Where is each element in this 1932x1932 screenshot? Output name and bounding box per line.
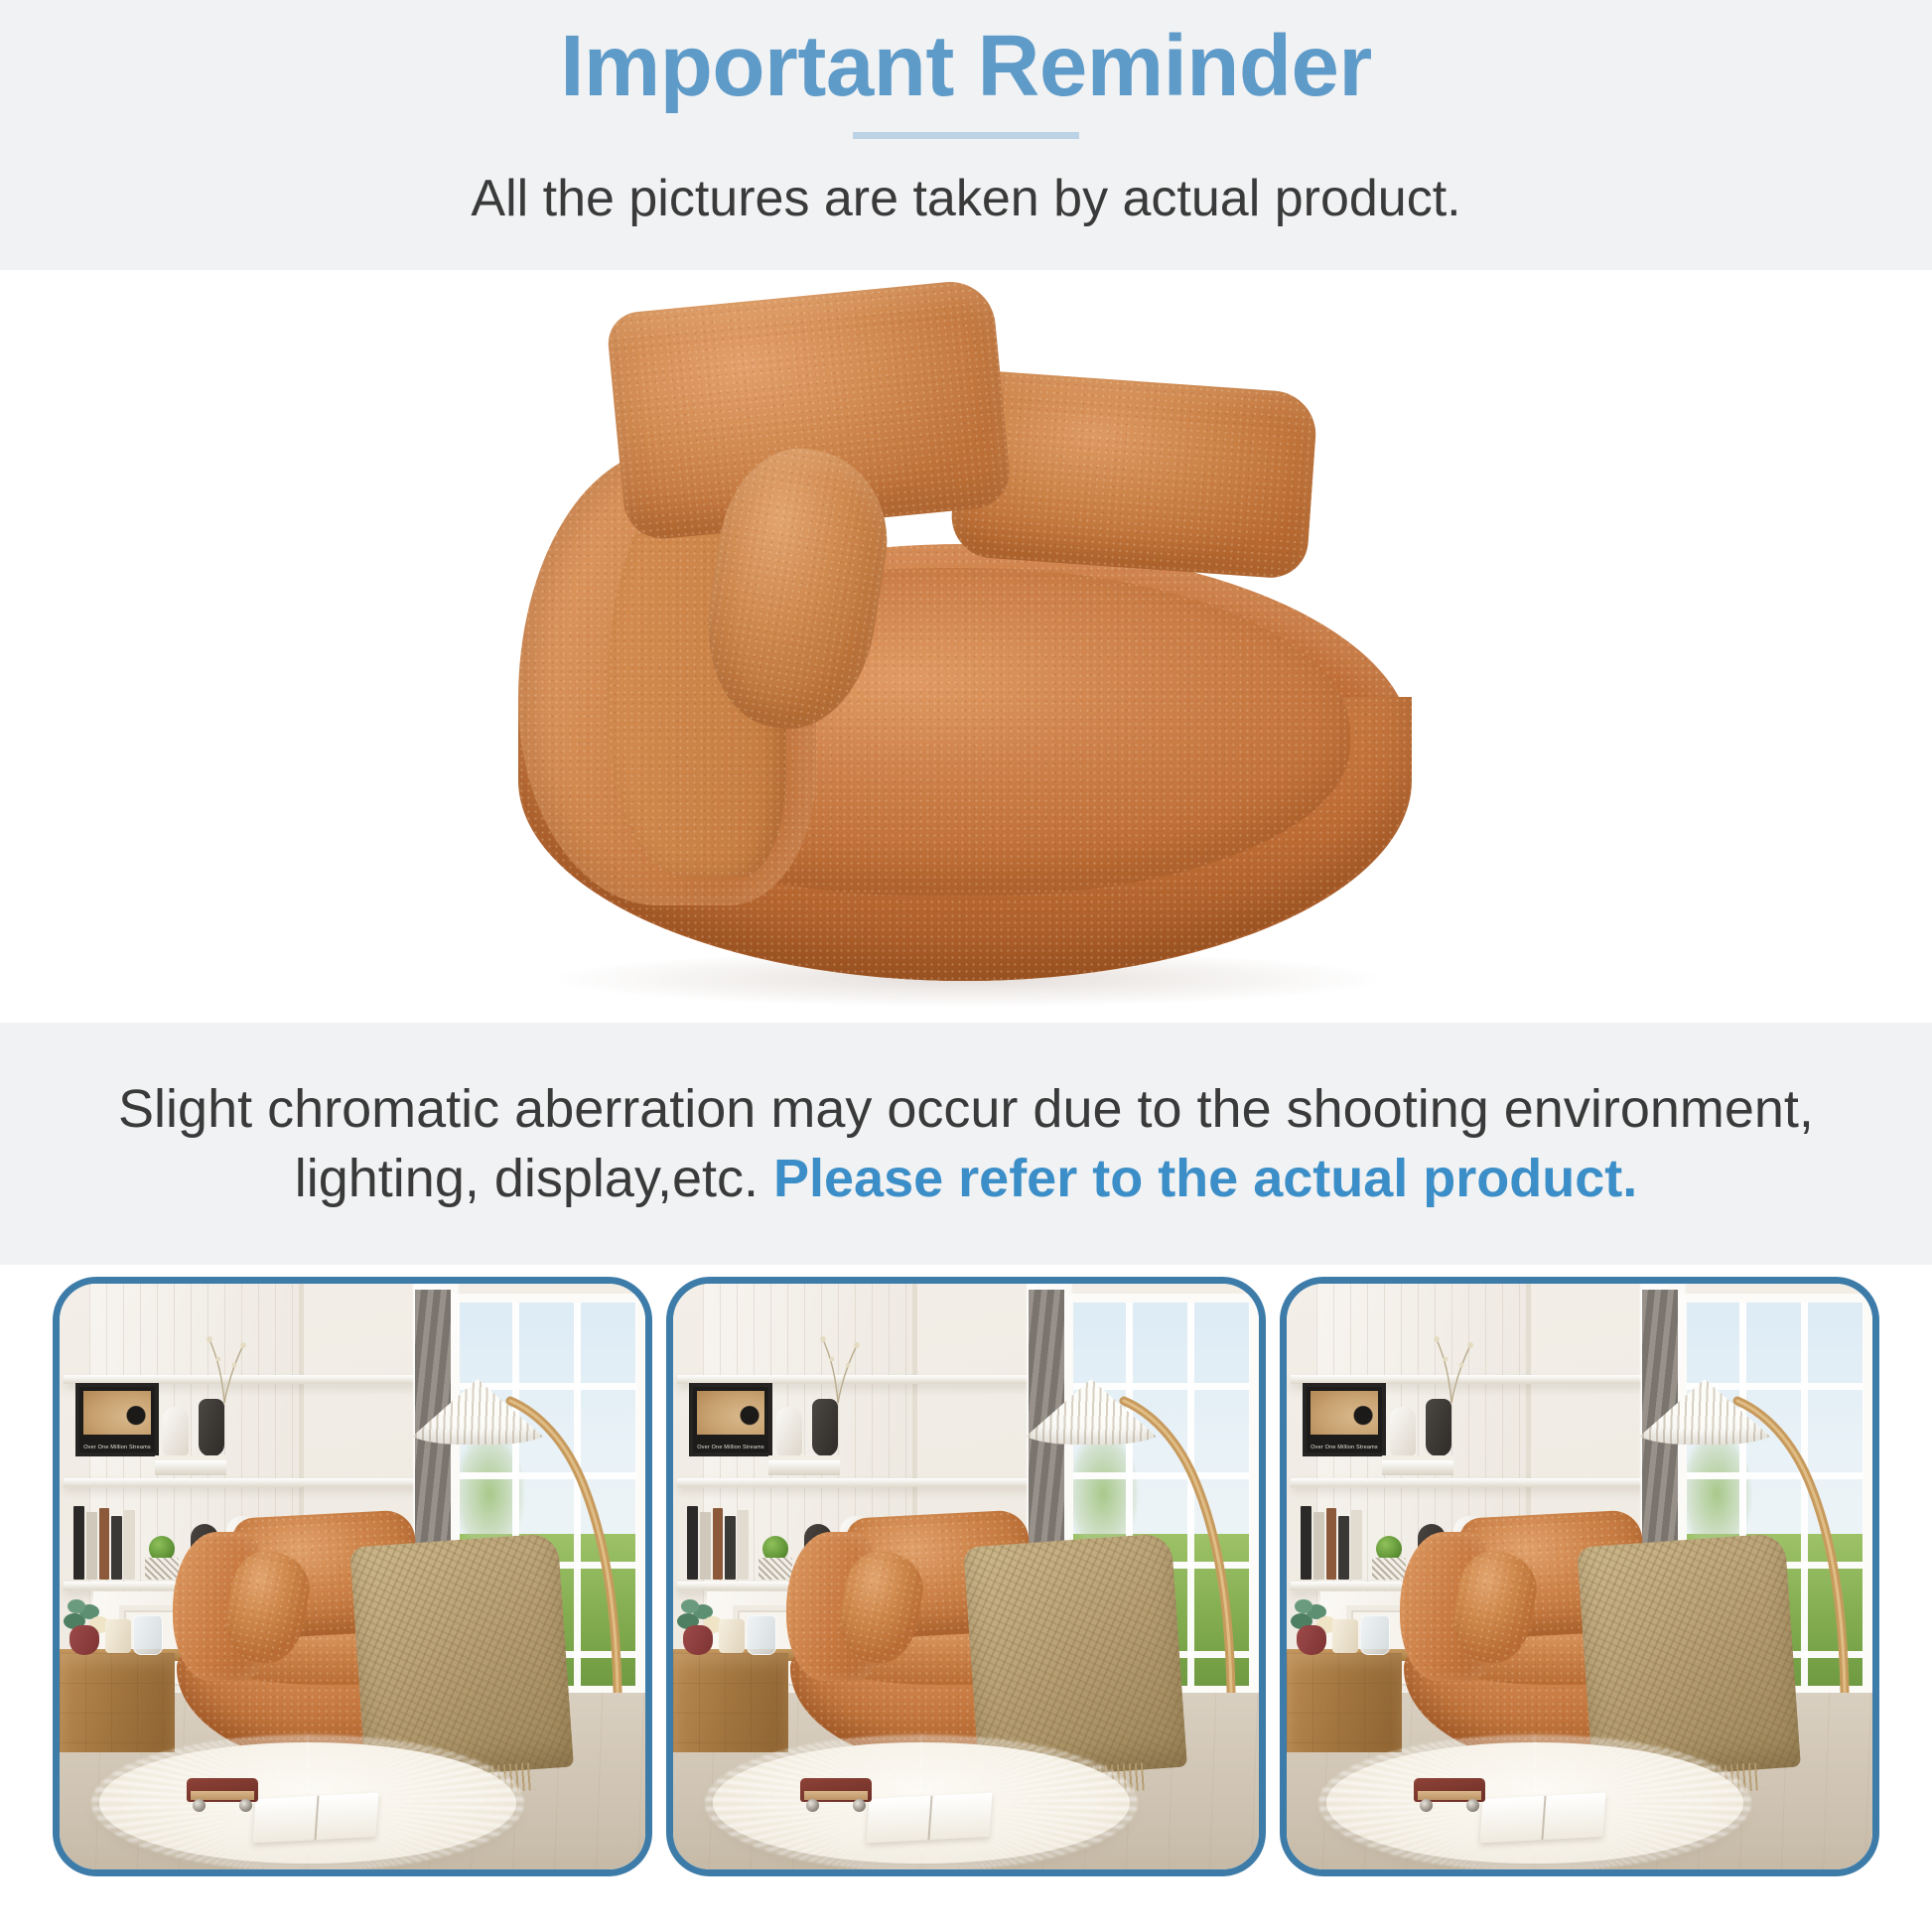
wood-nightstand [673, 1653, 788, 1752]
book-spine [1313, 1512, 1324, 1580]
white-sculpture-bust [163, 1407, 189, 1456]
book-spine [738, 1510, 749, 1580]
toy-car-wheel [806, 1799, 819, 1812]
lifestyle-thumbnail-row: Over One Million Streams [0, 1277, 1932, 1932]
eucalyptus-leaf [68, 1599, 85, 1613]
white-sculpture-bust [1390, 1407, 1416, 1456]
toy-car-decor [1414, 1778, 1485, 1812]
book-spine [1351, 1510, 1362, 1580]
white-sculpture-bust [776, 1407, 802, 1456]
dried-branch-decor [1426, 1329, 1477, 1403]
toy-car-wheel [239, 1799, 252, 1812]
nightstand-decor-group [1291, 1582, 1362, 1655]
book-spine [99, 1508, 110, 1580]
page-subtitle: All the pictures are taken by actual pro… [471, 169, 1460, 228]
disclaimer-highlight: Please refer to the actual product. [773, 1149, 1637, 1208]
book-spine [713, 1508, 724, 1580]
toy-car-wheel [1466, 1799, 1479, 1812]
glass-jar [133, 1615, 163, 1655]
vinyl-record-artwork [83, 1391, 151, 1435]
book-spine [687, 1506, 698, 1580]
vinyl-record-artwork [1311, 1391, 1378, 1435]
title-divider [853, 132, 1079, 139]
book-spine [1326, 1508, 1337, 1580]
stacked-books-horizontal [155, 1460, 226, 1475]
disclaimer-band: Slight chromatic aberration may occur du… [0, 1023, 1932, 1265]
vinyl-record-artwork [697, 1391, 764, 1435]
book-spine [700, 1512, 711, 1580]
glass-jar [1360, 1615, 1390, 1655]
hero-product-photo [0, 270, 1932, 1023]
artwork-caption: Over One Million Streams [82, 1445, 152, 1450]
dark-glass-vase [199, 1399, 224, 1456]
patterned-planter [145, 1558, 179, 1580]
burgundy-vase [69, 1625, 99, 1655]
lifestyle-photo-2[interactable]: Over One Million Streams [666, 1277, 1266, 1876]
glass-jar [747, 1615, 776, 1655]
toy-car-wheel [853, 1799, 866, 1812]
book-spine [124, 1510, 135, 1580]
product-reminder-page: Important Reminder All the pictures are … [0, 0, 1932, 1932]
framed-vinyl-art: Over One Million Streams [75, 1383, 159, 1456]
eucalyptus-leaf [1295, 1599, 1312, 1613]
book-spine [1301, 1506, 1311, 1580]
toy-car-decor [187, 1778, 258, 1812]
toy-car-wheel [193, 1799, 206, 1812]
room-scene: Over One Million Streams [60, 1284, 645, 1869]
framed-vinyl-art: Over One Million Streams [689, 1383, 772, 1456]
potted-topiary-plant [759, 1532, 792, 1580]
pillar-candle [105, 1619, 131, 1653]
lifestyle-photo-1[interactable]: Over One Million Streams [53, 1277, 652, 1876]
dried-branch-decor [812, 1329, 864, 1403]
nightstand-decor-group [677, 1582, 749, 1655]
open-book-on-rug [253, 1793, 379, 1844]
artwork-caption: Over One Million Streams [696, 1445, 765, 1450]
books-upright-row [1301, 1504, 1362, 1580]
patterned-planter [759, 1558, 792, 1580]
dried-branch-decor [199, 1329, 250, 1403]
toy-car-wheel [1420, 1799, 1433, 1812]
artwork-caption: Over One Million Streams [1310, 1445, 1379, 1450]
book-spine [111, 1516, 122, 1580]
dark-glass-vase [1426, 1399, 1451, 1456]
books-upright-row [73, 1504, 135, 1580]
wood-nightstand [1287, 1653, 1402, 1752]
burgundy-vase [683, 1625, 713, 1655]
room-scene: Over One Million Streams [1287, 1284, 1872, 1869]
books-upright-row [687, 1504, 749, 1580]
patterned-planter [1372, 1558, 1406, 1580]
disclaimer-line-1: Slight chromatic aberration may occur du… [118, 1074, 1814, 1144]
open-book-on-rug [867, 1793, 993, 1844]
dark-glass-vase [812, 1399, 838, 1456]
nightstand-decor-group [64, 1582, 135, 1655]
potted-topiary-plant [145, 1532, 179, 1580]
stacked-books-horizontal [1382, 1460, 1453, 1475]
wood-nightstand [60, 1653, 175, 1752]
eucalyptus-leaf [681, 1599, 699, 1613]
page-title: Important Reminder [560, 18, 1372, 114]
pillar-candle [1332, 1619, 1358, 1653]
book-spine [1338, 1516, 1349, 1580]
header-band: Important Reminder All the pictures are … [0, 0, 1932, 270]
framed-vinyl-art: Over One Million Streams [1303, 1383, 1386, 1456]
disclaimer-line-2: lighting, display,etc. Please refer to t… [295, 1144, 1638, 1213]
toy-car-decor [800, 1778, 872, 1812]
book-spine [725, 1516, 736, 1580]
stacked-books-horizontal [768, 1460, 840, 1475]
disclaimer-line-2-plain: lighting, display,etc. [295, 1149, 773, 1208]
lifestyle-photo-3[interactable]: Over One Million Streams [1280, 1277, 1879, 1876]
pillar-candle [719, 1619, 745, 1653]
book-spine [86, 1512, 97, 1580]
hero-stage [0, 270, 1932, 1023]
potted-topiary-plant [1372, 1532, 1406, 1580]
open-book-on-rug [1480, 1793, 1606, 1844]
burgundy-vase [1297, 1625, 1326, 1655]
room-scene: Over One Million Streams [673, 1284, 1259, 1869]
book-spine [73, 1506, 84, 1580]
